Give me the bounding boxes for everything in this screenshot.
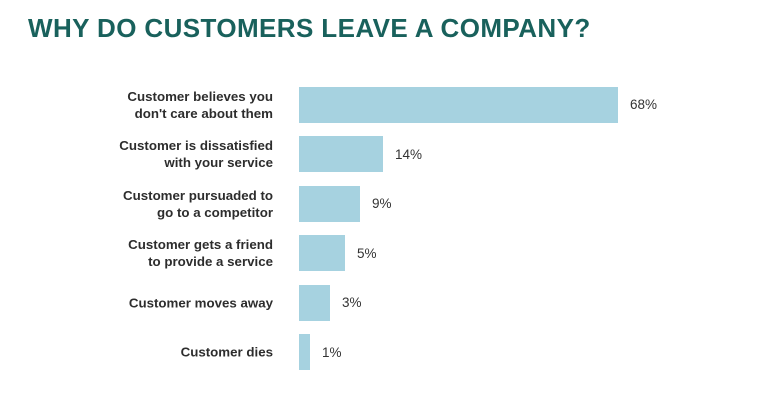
bar-track: 14% <box>299 136 422 172</box>
bar-value-label: 14% <box>395 148 422 162</box>
bar-category-label: Customer gets a friend to provide a serv… <box>43 236 273 270</box>
bar-category-label: Customer believes you don't care about t… <box>43 88 273 122</box>
bar-value-label: 9% <box>372 197 392 211</box>
bar-fill <box>299 235 345 271</box>
bar-track: 3% <box>299 285 362 321</box>
bar-row: Customer pursuaded to go to a competitor… <box>0 179 759 229</box>
bar-fill <box>299 87 618 123</box>
bar-track: 9% <box>299 186 392 222</box>
bar-category-label: Customer dies <box>43 344 273 361</box>
bar-track: 5% <box>299 235 377 271</box>
page-title: WHY DO CUSTOMERS LEAVE A COMPANY? <box>28 13 591 44</box>
bar-row: Customer moves away 3% <box>0 278 759 328</box>
bar-value-label: 1% <box>322 346 342 360</box>
bar-row: Customer dies 1% <box>0 328 759 378</box>
bar-category-label: Customer pursuaded to go to a competitor <box>43 187 273 221</box>
bar-track: 68% <box>299 87 657 123</box>
bar-value-label: 3% <box>342 296 362 310</box>
bar-row: Customer believes you don't care about t… <box>0 80 759 130</box>
bar-chart-plot-area: Customer believes you don't care about t… <box>0 80 759 400</box>
bar-row: Customer gets a friend to provide a serv… <box>0 229 759 279</box>
bar-value-label: 5% <box>357 247 377 261</box>
bar-category-label: Customer moves away <box>43 294 273 311</box>
chart-canvas: WHY DO CUSTOMERS LEAVE A COMPANY? Custom… <box>0 0 759 417</box>
bar-track: 1% <box>299 334 342 370</box>
bar-value-label: 68% <box>630 98 657 112</box>
bar-fill <box>299 334 310 370</box>
bar-fill <box>299 186 360 222</box>
bar-category-label: Customer is dissatisfied with your servi… <box>43 137 273 171</box>
bar-row: Customer is dissatisfied with your servi… <box>0 130 759 180</box>
bar-fill <box>299 136 383 172</box>
bar-fill <box>299 285 330 321</box>
